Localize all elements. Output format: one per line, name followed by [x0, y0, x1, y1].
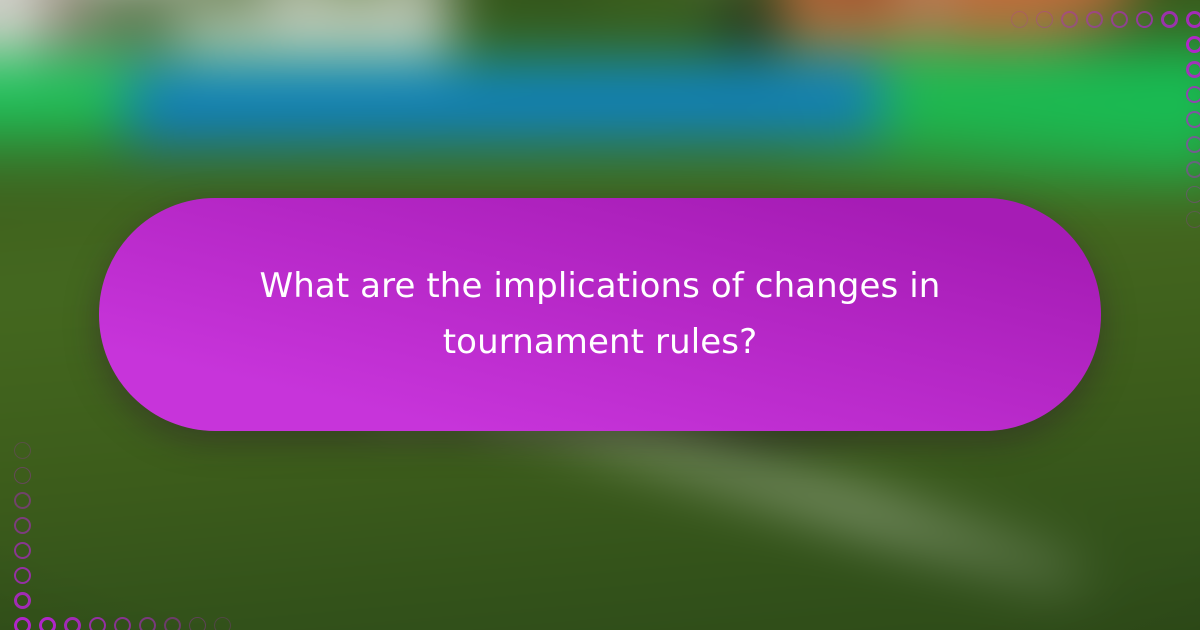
decorative-dot [1111, 11, 1128, 28]
decorative-dot [1186, 136, 1200, 153]
decorative-dot [1186, 61, 1200, 78]
decorative-dot [14, 592, 31, 609]
decorative-dot [1186, 111, 1200, 128]
decorative-dot [1186, 86, 1200, 103]
decorative-dot [139, 617, 156, 630]
decorative-dot [39, 617, 56, 630]
decorative-dot [1036, 11, 1053, 28]
screenshot-stage: What are the implications of changes in … [0, 0, 1200, 630]
decorative-dot [1136, 11, 1153, 28]
decorative-dot [14, 617, 31, 630]
decorative-dot [1186, 11, 1200, 28]
decorative-dot [189, 617, 206, 630]
question-card: What are the implications of changes in … [99, 198, 1101, 431]
decorative-dot [14, 492, 31, 509]
decorative-dot [14, 517, 31, 534]
decorative-dot [1186, 36, 1200, 53]
decorative-dot [164, 617, 181, 630]
decorative-dot [1186, 186, 1200, 203]
decorative-dot [64, 617, 81, 630]
decorative-dot [1186, 211, 1200, 228]
decorative-dot [1161, 11, 1178, 28]
decorative-dot [14, 542, 31, 559]
decorative-dot [89, 617, 106, 630]
decorative-dot [14, 467, 31, 484]
decorative-dot [14, 567, 31, 584]
decorative-dot [1086, 11, 1103, 28]
decorative-dot [114, 617, 131, 630]
decorative-dot [214, 617, 231, 630]
decorative-dot [14, 442, 31, 459]
decorative-dot [1061, 11, 1078, 28]
question-text: What are the implications of changes in … [250, 259, 950, 369]
decorative-dot [1186, 161, 1200, 178]
decorative-dot [1011, 11, 1028, 28]
